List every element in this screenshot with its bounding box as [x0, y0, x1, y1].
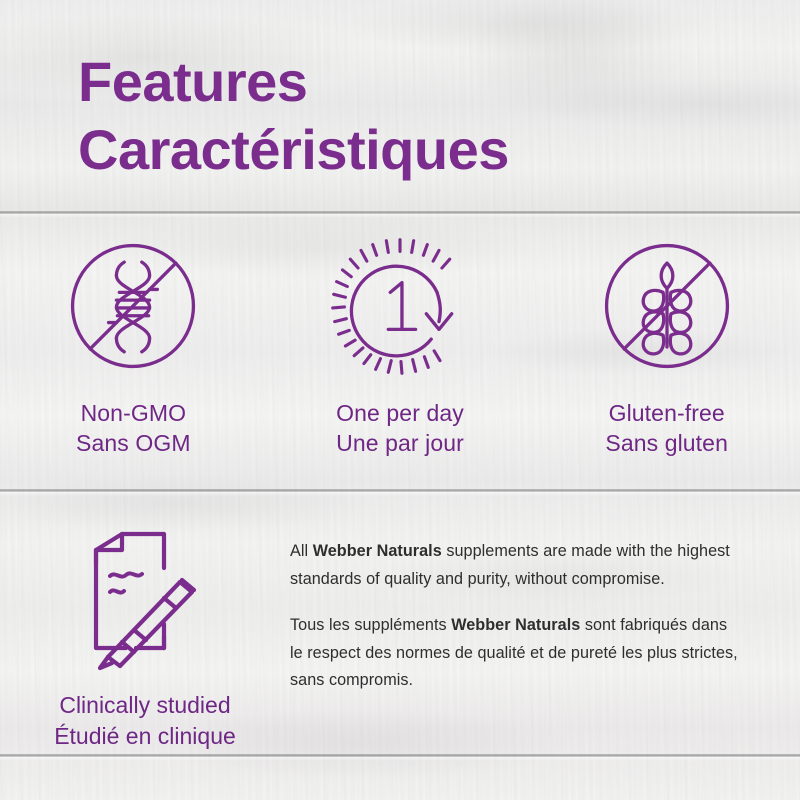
feature-item-one-per-day: One per day Une par jour [267, 228, 534, 459]
one-per-day-icon [322, 228, 478, 384]
clinically-studied-label: Clinically studied Étudié en clinique [54, 690, 236, 751]
clinically-studied-badge: Clinically studied Étudié en clinique [0, 512, 290, 751]
page-title: Features Caractéristiques [78, 48, 509, 185]
feature-panel: Features Caractéristiques [0, 0, 800, 800]
brand-name-en: Webber Naturals [313, 542, 442, 560]
feature-label-non-gmo-en: Non-GMO [76, 398, 191, 428]
page-title-fr: Caractéristiques [78, 116, 509, 184]
page-title-en: Features [78, 48, 509, 116]
description-paragraph-fr: Tous les suppléments Webber Naturals son… [290, 612, 740, 695]
feature-label-gluten-free-fr: Sans gluten [605, 428, 728, 458]
feature-label-non-gmo: Non-GMO Sans OGM [76, 398, 191, 459]
feature-label-one-per-day-en: One per day [336, 398, 464, 428]
clinically-studied-label-en: Clinically studied [54, 690, 236, 721]
feature-label-one-per-day-fr: Une par jour [336, 428, 464, 458]
brand-name-fr: Webber Naturals [451, 616, 580, 634]
feature-label-gluten-free-en: Gluten-free [605, 398, 728, 428]
gluten-free-wheat-icon [589, 228, 745, 384]
feature-label-one-per-day: One per day Une par jour [336, 398, 464, 459]
clipboard-pen-icon [60, 524, 230, 674]
feature-item-non-gmo: Non-GMO Sans OGM [0, 228, 267, 459]
clinically-studied-section: Clinically studied Étudié en clinique Al… [0, 512, 800, 751]
description-fr-before: Tous les suppléments [290, 616, 451, 634]
description-en-before: All [290, 542, 313, 560]
feature-label-non-gmo-fr: Sans OGM [76, 428, 191, 458]
feature-item-gluten-free: Gluten-free Sans gluten [533, 228, 800, 459]
feature-label-gluten-free: Gluten-free Sans gluten [605, 398, 728, 459]
description-block: All Webber Naturals supplements are made… [290, 512, 740, 695]
clinically-studied-label-fr: Étudié en clinique [54, 721, 236, 752]
description-paragraph-en: All Webber Naturals supplements are made… [290, 538, 740, 593]
no-gmo-dna-icon [55, 228, 211, 384]
feature-list: Non-GMO Sans OGM [0, 228, 800, 459]
